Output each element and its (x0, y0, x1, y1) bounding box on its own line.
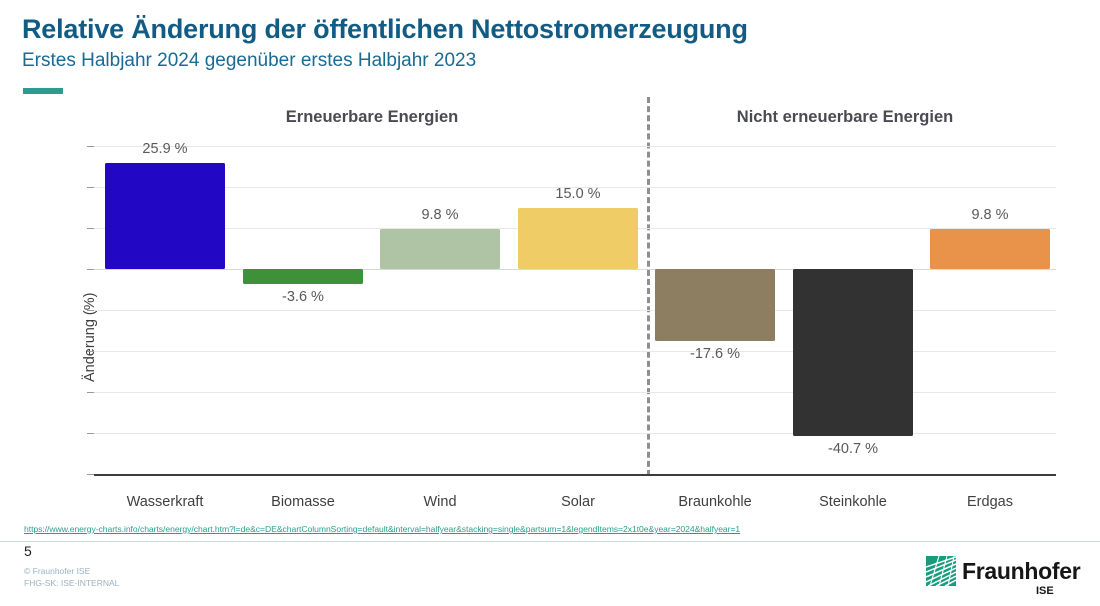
bar-value-label: -3.6 % (243, 289, 363, 305)
x-axis-category-label: Solar (518, 494, 638, 510)
fraunhofer-logo: Fraunhofer ISE (926, 556, 1076, 598)
y-axis-tick-mark (87, 433, 94, 434)
y-axis-tick-mark (87, 228, 94, 229)
y-axis-tick-mark (87, 351, 94, 352)
bar[interactable] (793, 269, 913, 436)
page-title: Relative Änderung der öffentlichen Netto… (22, 14, 748, 45)
accent-bar (23, 88, 63, 94)
bar-value-label: -17.6 % (655, 346, 775, 362)
x-axis-category-label: Biomasse (243, 494, 363, 510)
footer-divider (0, 541, 1100, 542)
bar[interactable] (930, 229, 1050, 269)
x-axis-category-label: Braunkohle (655, 494, 775, 510)
bar[interactable] (243, 269, 363, 284)
fraunhofer-institute-abbr: ISE (1036, 585, 1054, 597)
x-axis-category-label: Erdgas (930, 494, 1050, 510)
gridline (94, 146, 1056, 147)
x-axis-category-label: Wasserkraft (105, 494, 225, 510)
y-axis-tick-mark (87, 146, 94, 147)
y-axis-tick-mark (87, 474, 94, 475)
copyright-text: © Fraunhofer ISE FHG-SK: ISE-INTERNAL (24, 566, 119, 589)
group-title-nonrenewable: Nicht erneuerbare Energien (672, 108, 1018, 127)
x-axis-line (94, 474, 1056, 476)
bar-value-label: -40.7 % (793, 441, 913, 457)
source-link[interactable]: https://www.energy-charts.info/charts/en… (24, 524, 740, 534)
page-number: 5 (24, 543, 32, 559)
bar[interactable] (380, 229, 500, 269)
bar-value-label: 9.8 % (930, 207, 1050, 223)
y-axis-tick-mark (87, 310, 94, 311)
chart-plot-area: Änderung (%) 3020100-10-20-30-40-50 25.9… (94, 146, 1056, 474)
fraunhofer-logo-icon (926, 556, 956, 586)
bar-value-label: 15.0 % (518, 186, 638, 202)
x-axis-category-label: Wind (380, 494, 500, 510)
slide: Relative Änderung der öffentlichen Netto… (0, 0, 1100, 606)
bar-value-label: 25.9 % (105, 141, 225, 157)
y-axis-tick-mark (87, 187, 94, 188)
bar[interactable] (518, 208, 638, 270)
bar[interactable] (105, 163, 225, 269)
bar-value-label: 9.8 % (380, 207, 500, 223)
x-axis-category-label: Steinkohle (793, 494, 913, 510)
y-axis-tick-mark (87, 269, 94, 270)
bar[interactable] (655, 269, 775, 341)
y-axis-tick-mark (87, 392, 94, 393)
fraunhofer-wordmark: Fraunhofer (962, 558, 1080, 585)
page-subtitle: Erstes Halbjahr 2024 gegenüber erstes Ha… (22, 50, 476, 72)
group-title-renewable: Erneuerbare Energien (192, 108, 552, 127)
y-axis-label: Änderung (%) (82, 293, 98, 382)
